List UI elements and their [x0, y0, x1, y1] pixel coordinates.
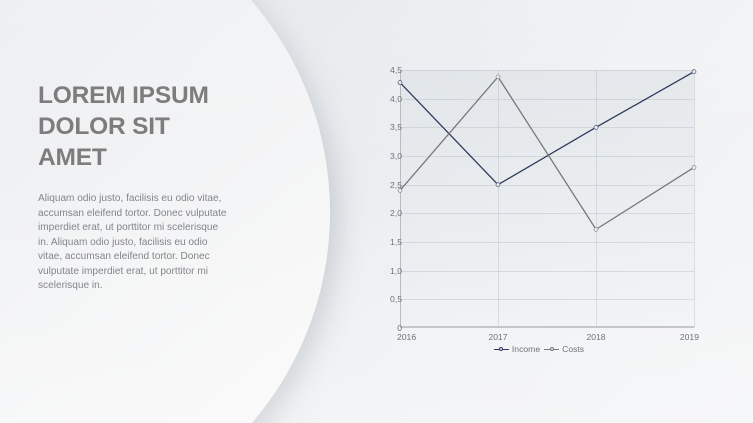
slide: Lorem ipsum dolor sit amet Aliquam odio … [0, 0, 753, 423]
legend-marker-icon [544, 346, 559, 353]
page-title: Lorem ipsum dolor sit amet [38, 80, 238, 173]
series-line [400, 77, 694, 230]
y-axis-tick-label: 3,5 [362, 122, 402, 132]
chart-legend: IncomeCosts [372, 344, 706, 354]
y-axis-tick-label: 0,5 [362, 294, 402, 304]
data-point-marker [692, 70, 696, 74]
y-axis-tick-label: 1,5 [362, 237, 402, 247]
legend-item[interactable]: Costs [544, 344, 584, 354]
body-paragraph: Aliquam odio justo, facilisis eu odio vi… [38, 173, 230, 294]
data-point-marker [496, 183, 500, 187]
y-axis-tick-label: 3,0 [362, 151, 402, 161]
x-axis-tick-label: 2018 [586, 332, 605, 342]
y-axis-tick-label: 0 [362, 323, 402, 333]
legend-marker-icon [494, 346, 509, 353]
data-point-marker [398, 81, 402, 85]
legend-item[interactable]: Income [494, 344, 540, 354]
plot-area [400, 70, 694, 328]
y-axis-tick-label: 2,5 [362, 180, 402, 190]
legend-label: Costs [562, 344, 584, 354]
y-axis-tick-label: 1,0 [362, 266, 402, 276]
legend-label: Income [512, 344, 540, 354]
line-chart: 00,51,01,52,02,53,03,54,04,5 20162017201… [372, 58, 706, 364]
y-axis-tick-label: 4,0 [362, 94, 402, 104]
data-point-marker [692, 165, 696, 169]
data-point-marker [594, 125, 598, 129]
text-block: Lorem ipsum dolor sit amet Aliquam odio … [38, 80, 238, 294]
y-axis-tick-label: 2,0 [362, 208, 402, 218]
x-axis-tick-label: 2017 [488, 332, 507, 342]
series-layer [400, 70, 694, 328]
series-line [400, 72, 694, 185]
x-axis-tick-label: 2016 [397, 332, 416, 342]
data-point-marker [496, 75, 500, 79]
data-point-marker [594, 227, 598, 231]
y-axis-tick-label: 4,5 [362, 65, 402, 75]
x-axis-tick-label: 2019 [680, 332, 699, 342]
gridline-vertical [694, 70, 695, 328]
